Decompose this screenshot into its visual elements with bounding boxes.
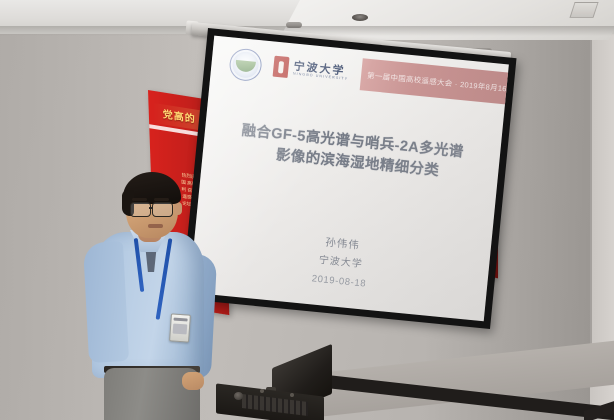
presenter-hand (182, 372, 204, 390)
presenter-laptop[interactable] (216, 356, 332, 420)
ningbo-university-logo-icon (273, 56, 290, 78)
glasses-icon (130, 202, 151, 217)
downlight-icon (352, 14, 368, 21)
conference-ribbon: 第一届中国高校遥感大会 · 2019年8月16-18日 · 杭州 (360, 58, 509, 105)
glasses-icon (152, 202, 173, 217)
presenter (78, 176, 228, 420)
conference-ribbon-text: 第一届中国高校遥感大会 · 2019年8月16-18日 · 杭州 (367, 69, 509, 98)
ceiling-speaker-icon (286, 22, 302, 28)
presenter-left-arm (83, 241, 129, 363)
presenter-mouth (148, 224, 163, 228)
glasses-bridge (149, 207, 153, 209)
laptop-knob (234, 392, 243, 400)
presenter-eyebrow-right (154, 198, 169, 201)
id-badge-icon (169, 313, 191, 342)
wall-corner-line (590, 34, 592, 374)
laptop-stud (260, 389, 264, 393)
projection-screen: 宁波大学 NINGBO UNIVERSITY 第一届中国高校遥感大会 · 201… (181, 28, 516, 332)
slide-metadata: 孙伟伟 宁波大学 2019-08-18 (205, 222, 477, 303)
university-seal-icon (228, 47, 263, 82)
presenter-ear (174, 202, 182, 215)
screen-border: 宁波大学 NINGBO UNIVERSITY 第一届中国高校遥感大会 · 201… (181, 28, 516, 329)
presentation-photo-scene: 党高的 热烈庆祝 第一届中国 高校遥感 大会顺利 召开新时 代测绘 遥感科技 创… (0, 0, 614, 420)
slide-title: 融合GF-5高光谱与哨兵-2A多光谱 影像的滨海湿地精细分类 (216, 119, 487, 187)
screen-projection-surface: 宁波大学 NINGBO UNIVERSITY 第一届中国高校遥感大会 · 201… (189, 36, 509, 322)
presenter-eyebrow-left (132, 198, 147, 201)
laptop-stud (290, 393, 294, 397)
